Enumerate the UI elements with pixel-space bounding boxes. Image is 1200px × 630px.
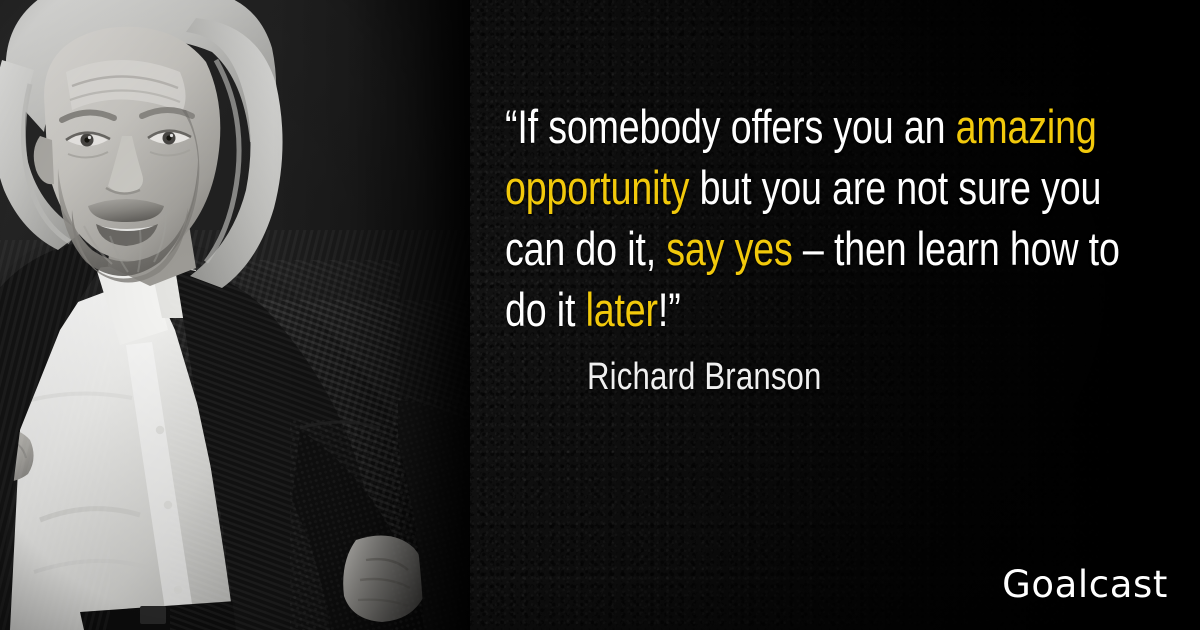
quote-segment-text: can do it, [505,222,666,275]
quote-attribution: Richard Branson [587,356,822,399]
quote-highlight-opportunity: opportunity [505,161,689,214]
quote-segment-text: but you are not sure you [689,161,1101,214]
quote-highlight-amazing: amazing [956,100,1097,153]
quote-highlight-later: later [586,283,658,336]
quote-segment-text: !” [658,283,681,336]
quote-line-3: can do it, say yes – then learn how to [505,218,1001,279]
quote-segment-text: – then learn how to [793,222,1120,275]
quote-block: “If somebody offers you an amazing oppor… [505,96,1125,340]
goalcast-logo[interactable]: Goalcast [1002,563,1168,606]
quote-line-4: do it later!” [505,279,1001,340]
portrait-photo [0,0,470,630]
quote-segment-text: “If somebody offers you an [505,100,956,153]
quote-line-2: opportunity but you are not sure you [505,157,1001,218]
quote-segment-text: do it [505,283,586,336]
quote-line-1: “If somebody offers you an amazing [505,96,1001,157]
quote-card: “If somebody offers you an amazing oppor… [0,0,1200,630]
quote-highlight-say-yes: say yes [666,222,792,275]
